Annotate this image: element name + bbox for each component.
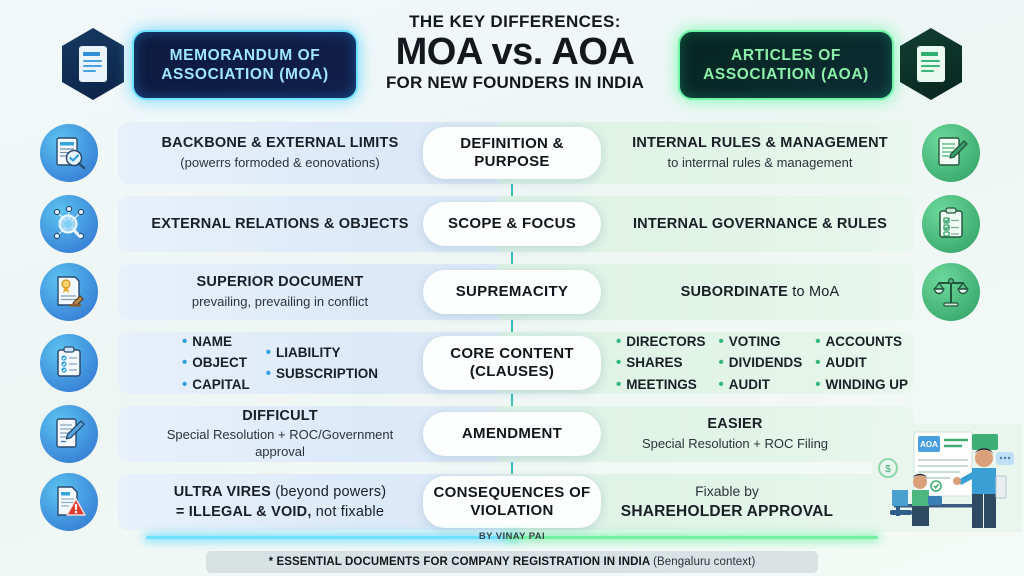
- bullet-item: AUDIT: [815, 352, 908, 373]
- table-row: SUPERIOR DOCUMENT prevailing, prevailing…: [0, 264, 1024, 320]
- row-label-pill[interactable]: CONSEQUENCES OF VIOLATION: [423, 476, 601, 528]
- row-right-text: INTERNAL GOVERNANCE & RULES: [600, 196, 920, 252]
- aoa-badge[interactable]: ARTICLES OF ASSOCIATION (AOA): [678, 30, 894, 100]
- network-magnifier-icon: [40, 195, 98, 253]
- bullet-column: LIABILITY SUBSCRIPTION: [266, 342, 378, 385]
- right-headline-light: to MoA: [788, 284, 839, 300]
- left-headline-bold: ULTRA VIRES: [174, 484, 271, 500]
- right-headline: SHAREHOLDER APPROVAL: [621, 502, 833, 521]
- title-main: MOA vs. AOA: [362, 33, 668, 72]
- bullet-item: ACCOUNTS: [815, 331, 908, 352]
- bullet-item: WINDING UP: [815, 374, 908, 395]
- bullet-item: VOTING: [718, 331, 802, 352]
- svg-text:AOA: AOA: [920, 440, 938, 449]
- left-subtext: (powerrs formoded & eonovations): [180, 155, 379, 172]
- row-left-text: DIFFICULT Special Resolution + ROC/Gover…: [130, 406, 430, 462]
- row-label-pill[interactable]: AMENDMENT: [423, 412, 601, 456]
- bullet-item: LIABILITY: [266, 342, 378, 363]
- left-headline: BACKBONE & EXTERNAL LIMITS: [162, 134, 399, 152]
- right-subtext: to interrnal rules & management: [668, 155, 853, 172]
- right-headline-bold: SUBORDINATE: [681, 284, 788, 300]
- row-divider: [511, 462, 513, 474]
- footer-note: * ESSENTIAL DOCUMENTS FOR COMPANY REGIST…: [269, 556, 756, 568]
- bullet-column: DIRECTORS SHARES MEETINGS: [616, 331, 706, 395]
- aoa-hexagon-document-icon: [900, 28, 962, 100]
- bullet-item: CAPITAL: [182, 374, 250, 395]
- right-headline: INTERNAL RULES & MANAGEMENT: [632, 134, 888, 152]
- row-divider: [511, 184, 513, 196]
- right-subtext-top: Fixable by: [695, 482, 759, 500]
- table-row: BACKBONE & EXTERNAL LIMITS (powerrs form…: [0, 122, 1024, 184]
- bullet-column: ACCOUNTS AUDIT WINDING UP: [815, 331, 908, 395]
- document-magnifier-check-icon: [40, 124, 98, 182]
- bullet-item: MEETINGS: [616, 374, 706, 395]
- footer-note-bold: * ESSENTIAL DOCUMENTS FOR COMPANY REGIST…: [269, 556, 650, 568]
- clipboard-checklist-icon: [40, 334, 98, 392]
- right-headline: EASIER: [707, 415, 762, 433]
- left-headline: EXTERNAL RELATIONS & OBJECTS: [151, 215, 408, 233]
- bullet-item: SHARES: [616, 352, 706, 373]
- svg-text:$: $: [885, 464, 891, 475]
- right-headline: INTERNAL GOVERNANCE & RULES: [633, 215, 887, 233]
- byline: BY VINAY PAI: [412, 531, 612, 542]
- left-headline-2: = ILLEGAL & VOID, not fixable: [176, 503, 384, 521]
- title-eyebrow: THE KEY DIFFERENCES:: [362, 12, 668, 32]
- bullet-column: VOTING DIVIDENDS AUDIT: [718, 331, 802, 395]
- clipboard-checklist-icon: [922, 195, 980, 253]
- row-divider: [511, 252, 513, 264]
- certificate-gavel-icon: [40, 263, 98, 321]
- right-headline: SUBORDINATE to MoA: [681, 283, 840, 301]
- bullet-column: NAME OBJECT CAPITAL: [182, 331, 250, 395]
- table-row: NAME OBJECT CAPITAL LIABILITY SUBSCRIPTI…: [0, 332, 1024, 394]
- scales-of-justice-icon: [922, 263, 980, 321]
- left-headline: DIFFICULT: [242, 407, 318, 425]
- left-subtext: Special Resolution + ROC/Government appr…: [145, 427, 415, 461]
- row-divider: [511, 394, 513, 406]
- bullet-item: OBJECT: [182, 352, 250, 373]
- row-right-text: SUBORDINATE to MoA: [600, 264, 920, 320]
- bullet-item: NAME: [182, 331, 250, 352]
- bullet-item: SUBSCRIPTION: [266, 363, 378, 384]
- document-pen-icon: [922, 124, 980, 182]
- row-right-text: Fixable by SHAREHOLDER APPROVAL: [582, 474, 872, 530]
- row-label-pill[interactable]: SUPREMACITY: [423, 270, 601, 314]
- left-headline: ULTRA VIRES (beyond powers): [174, 483, 387, 501]
- bullet-item: DIRECTORS: [616, 331, 706, 352]
- right-bullet-columns: DIRECTORS SHARES MEETINGS VOTING DIVIDEN…: [616, 331, 908, 395]
- row-right-text: DIRECTORS SHARES MEETINGS VOTING DIVIDEN…: [594, 332, 930, 394]
- table-row: ULTRA VIRES (beyond powers) = ILLEGAL & …: [0, 474, 1024, 530]
- table-row: DIFFICULT Special Resolution + ROC/Gover…: [0, 406, 1024, 462]
- document-warning-icon: [40, 473, 98, 531]
- header: MEMORANDUM OF ASSOCIATION (MOA) THE KEY …: [0, 0, 1024, 112]
- title-subline: FOR NEW FOUNDERS IN INDIA: [362, 73, 668, 93]
- footer-note-bar: * ESSENTIAL DOCUMENTS FOR COMPANY REGIST…: [206, 551, 818, 573]
- row-left-text: BACKBONE & EXTERNAL LIMITS (powerrs form…: [130, 122, 430, 184]
- left-subtext: prevailing, prevailing in conflict: [192, 294, 368, 311]
- footer-note-light: (Bengaluru context): [653, 556, 755, 568]
- row-divider: [511, 320, 513, 332]
- row-right-text: INTERNAL RULES & MANAGEMENT to interrnal…: [600, 122, 920, 184]
- row-label-pill[interactable]: SCOPE & FOCUS: [423, 202, 601, 246]
- row-left-text: SUPERIOR DOCUMENT prevailing, prevailing…: [130, 264, 430, 320]
- bullet-item: DIVIDENDS: [718, 352, 802, 373]
- table-row: EXTERNAL RELATIONS & OBJECTS SCOPE & FOC…: [0, 196, 1024, 252]
- right-subtext: Special Resolution + ROC Filing: [642, 436, 828, 453]
- bullet-item: AUDIT: [718, 374, 802, 395]
- row-left-text: ULTRA VIRES (beyond powers) = ILLEGAL & …: [130, 474, 430, 530]
- row-left-text: EXTERNAL RELATIONS & OBJECTS: [130, 196, 430, 252]
- people-discussing-aoa-illustration: AOA $: [872, 424, 1022, 532]
- infographic-canvas: MEMORANDUM OF ASSOCIATION (MOA) THE KEY …: [0, 0, 1024, 576]
- row-left-text: NAME OBJECT CAPITAL LIABILITY SUBSCRIPTI…: [130, 332, 430, 394]
- row-label-pill[interactable]: DEFINITION & PURPOSE: [423, 127, 601, 179]
- left-headline: SUPERIOR DOCUMENT: [197, 273, 364, 291]
- page-title: THE KEY DIFFERENCES: MOA vs. AOA FOR NEW…: [362, 12, 668, 93]
- moa-hexagon-document-icon: [62, 28, 124, 100]
- row-right-text: EASIER Special Resolution + ROC Filing: [590, 406, 880, 462]
- document-pencil-icon: [40, 405, 98, 463]
- left-bullet-columns: NAME OBJECT CAPITAL LIABILITY SUBSCRIPTI…: [182, 331, 378, 395]
- left-headline2-bold: = ILLEGAL & VOID,: [176, 504, 312, 520]
- moa-badge[interactable]: MEMORANDUM OF ASSOCIATION (MOA): [132, 30, 358, 100]
- row-label-pill[interactable]: CORE CONTENT (CLAUSES): [423, 336, 601, 390]
- left-headline2-light: not fixable: [312, 504, 385, 520]
- left-headline-light: (beyond powers): [271, 484, 386, 500]
